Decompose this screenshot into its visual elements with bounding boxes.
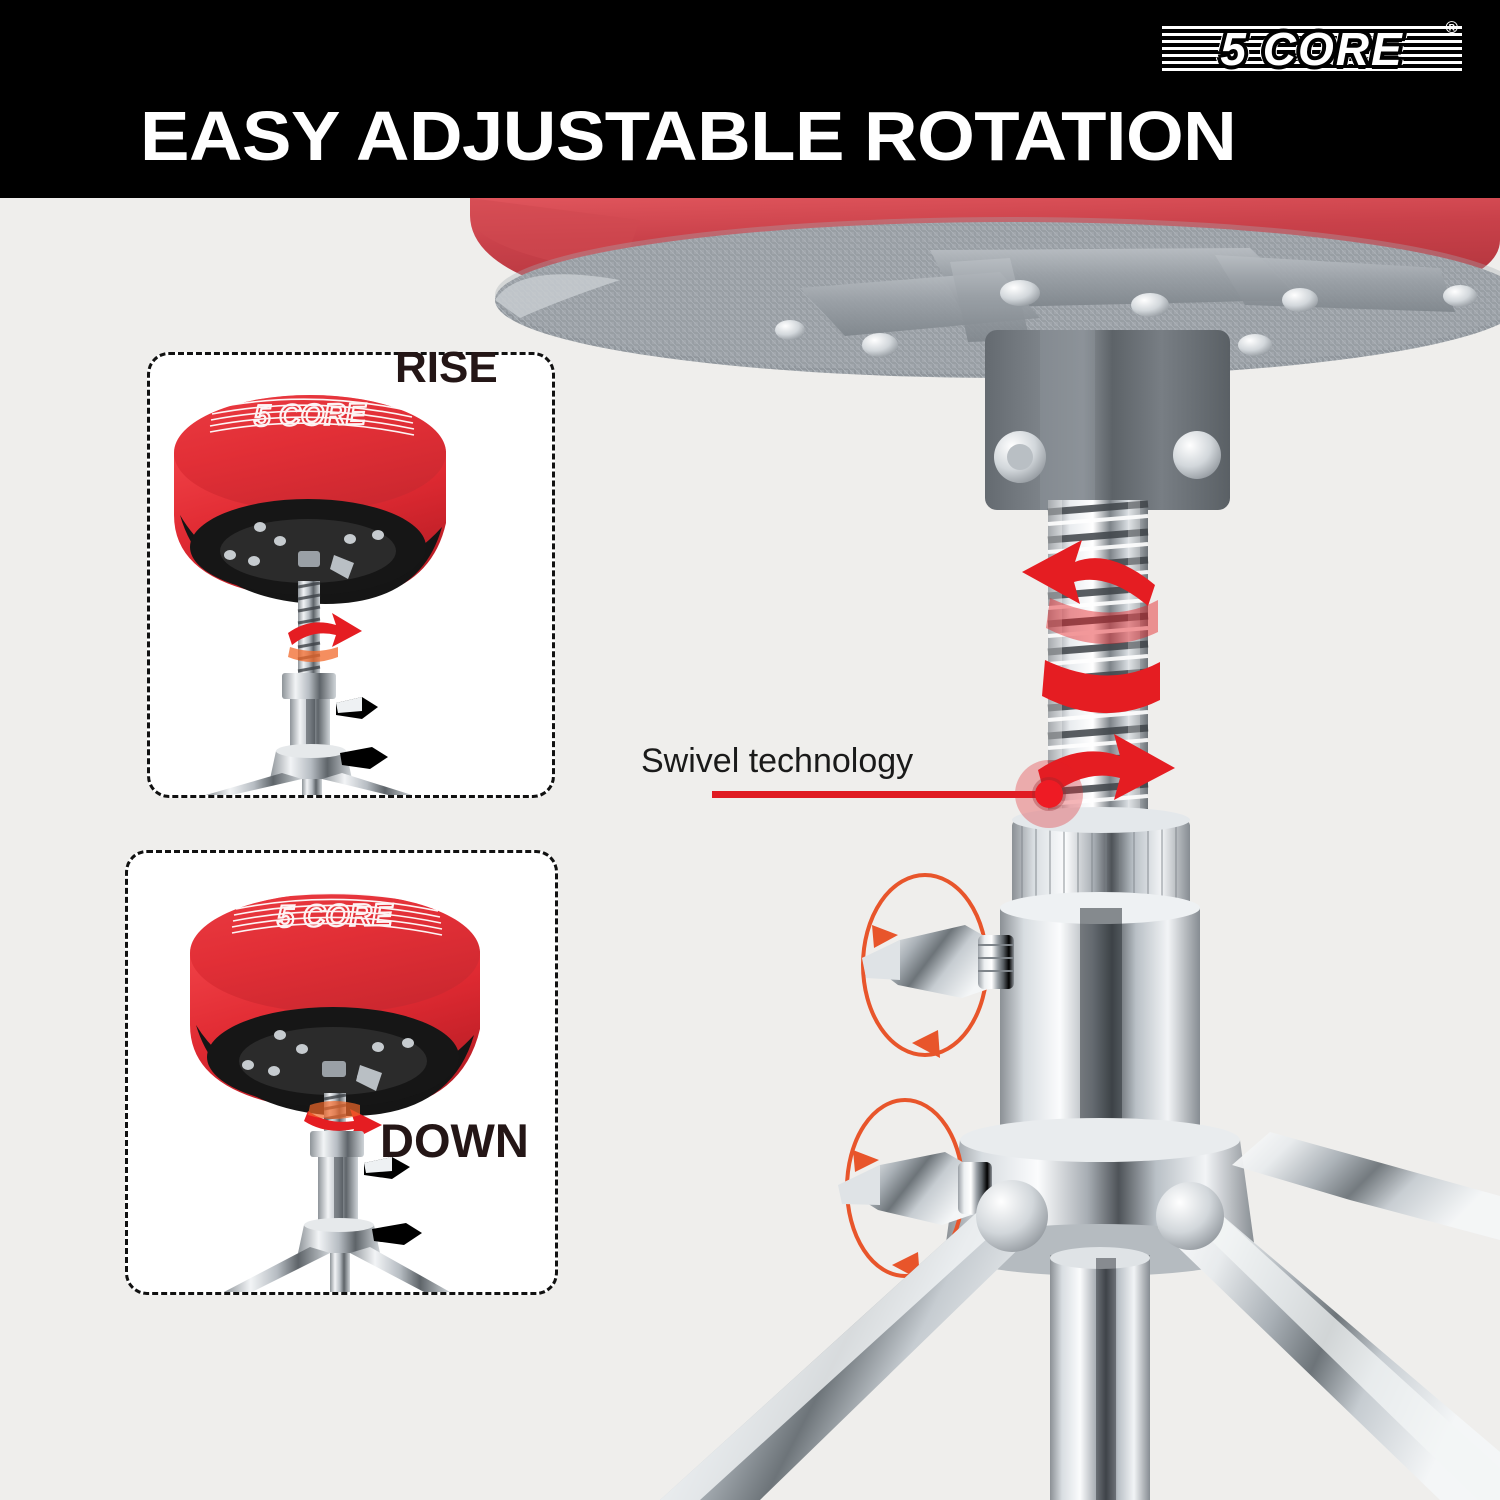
panel-label-rise: RISE [395,343,498,393]
brand-name: 5 CORE [1220,22,1403,76]
page-title: EASY ADJUSTABLE ROTATION [140,96,1236,176]
header-banner: EASY ADJUSTABLE ROTATION 5 CORE ® [0,0,1500,198]
marketing-image-stage: EASY ADJUSTABLE ROTATION 5 CORE ® [0,0,1500,1500]
rise-illustration: 5 CORE [150,355,552,795]
svg-text:5 CORE: 5 CORE [277,897,394,934]
callout-label: Swivel technology [641,742,913,781]
callout-dot [1035,780,1063,808]
panel-label-down: DOWN [380,1113,529,1168]
inset-panel-down: 5 CORE [125,850,558,1295]
mounting-bracket [985,330,1230,510]
registered-mark: ® [1445,18,1458,38]
down-illustration: 5 CORE [128,853,555,1292]
inset-panel-rise: 5 CORE [147,352,555,798]
callout-leader-line [712,791,1046,798]
brand-wordmark: 5 CORE [1162,16,1462,82]
svg-text:5 CORE: 5 CORE [254,398,367,433]
brand-logo: 5 CORE ® [1162,16,1462,82]
upper-clamp-knob [862,875,1014,1058]
